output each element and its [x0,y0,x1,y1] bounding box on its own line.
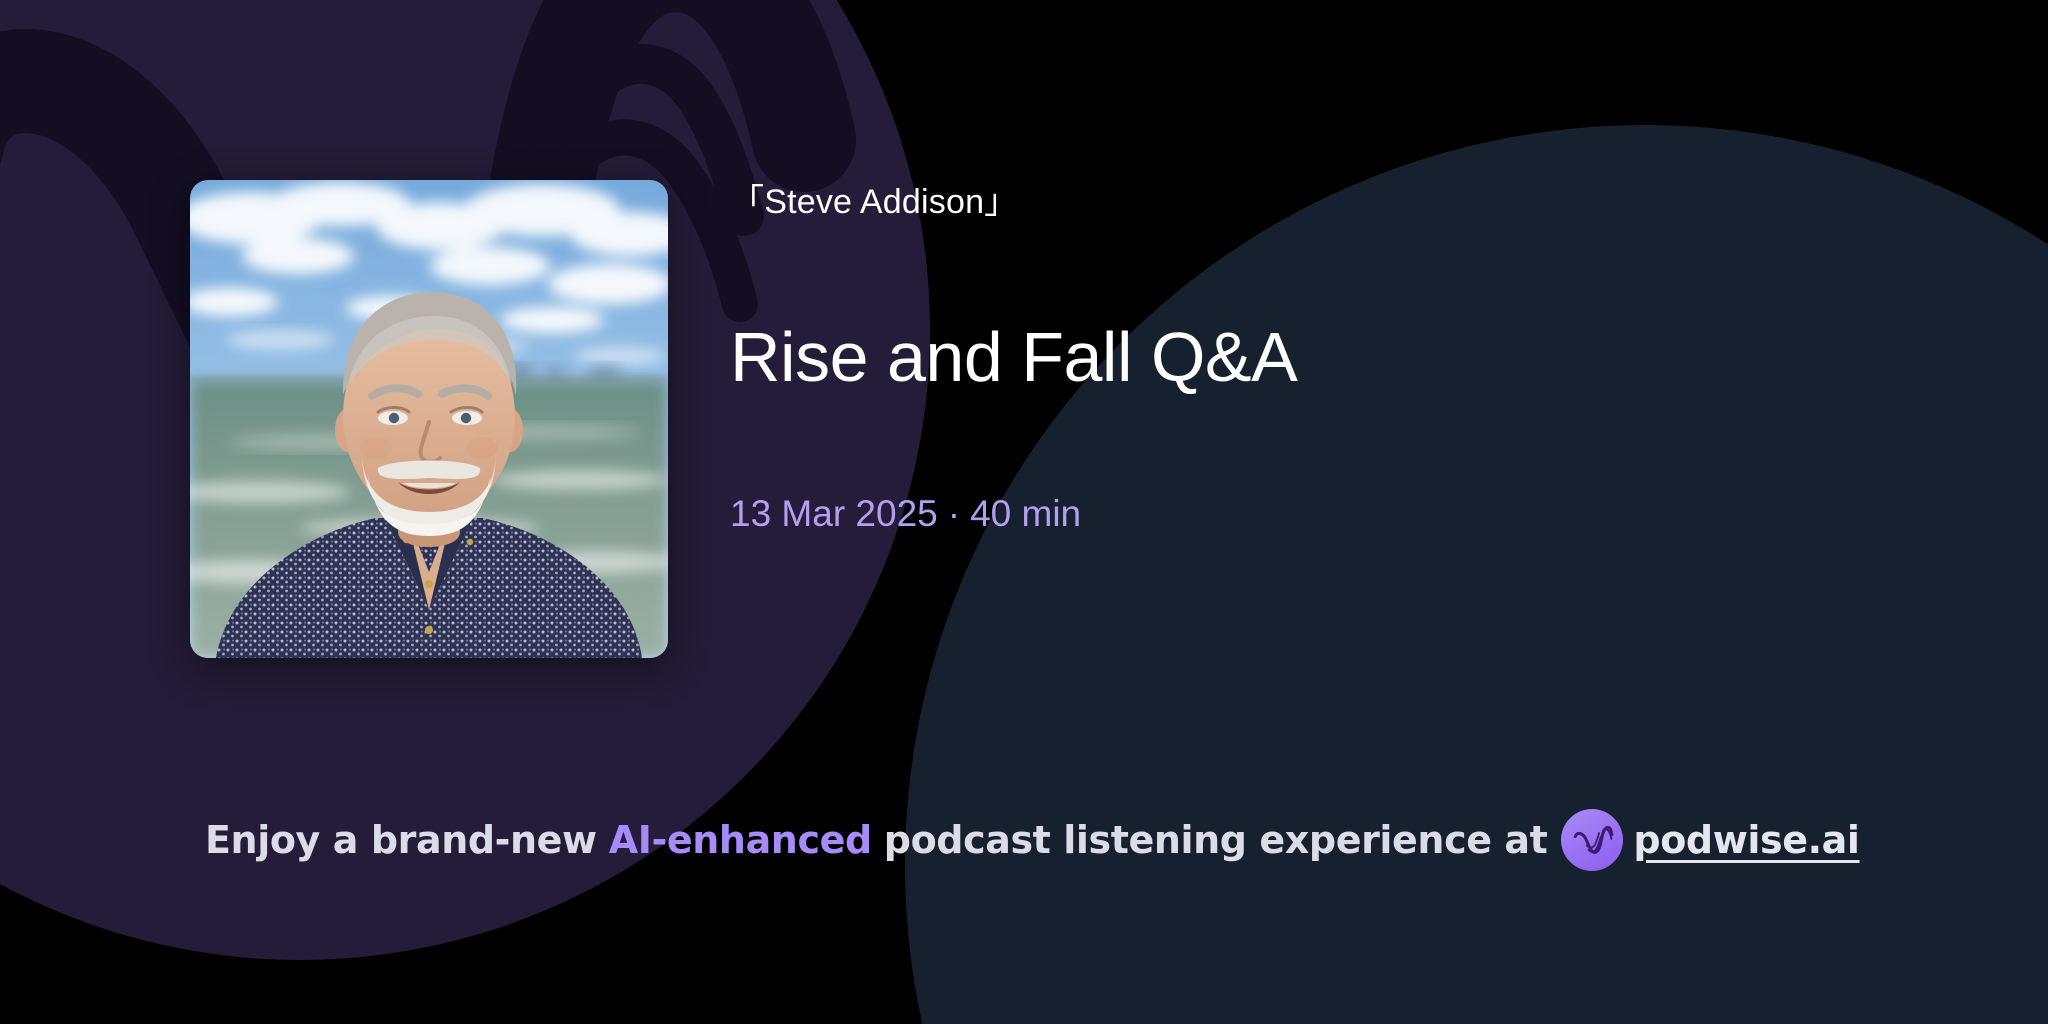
podcast-name: 「Steve Addison」 [730,180,1880,224]
footer-tail-text: podcast listening experience at [872,800,1548,880]
card-content: 「Steve Addison」 Rise and Fall Q&A 13 Mar… [0,0,2048,1024]
podcast-cover-art [190,180,668,658]
episode-duration: 40 min [970,493,1081,534]
episode-date: 13 Mar 2025 [730,493,938,534]
episode-title: Rise and Fall Q&A [730,316,1880,398]
promo-footer: Enjoy a brand-new AI-enhanced podcast li… [0,800,2048,880]
podwise-link[interactable]: podwise.ai [1633,818,1859,862]
episode-meta: 13 Mar 2025·40 min [730,490,1880,538]
footer-accent-text: AI-enhanced [597,800,872,880]
episode-share-card: 「Steve Addison」 Rise and Fall Q&A 13 Mar… [0,0,2048,1024]
meta-separator: · [938,493,970,534]
footer-lead-text: Enjoy a brand-new [205,800,597,880]
episode-info: 「Steve Addison」 Rise and Fall Q&A 13 Mar… [730,180,1880,538]
podwise-wave-logo-icon [1561,809,1623,871]
